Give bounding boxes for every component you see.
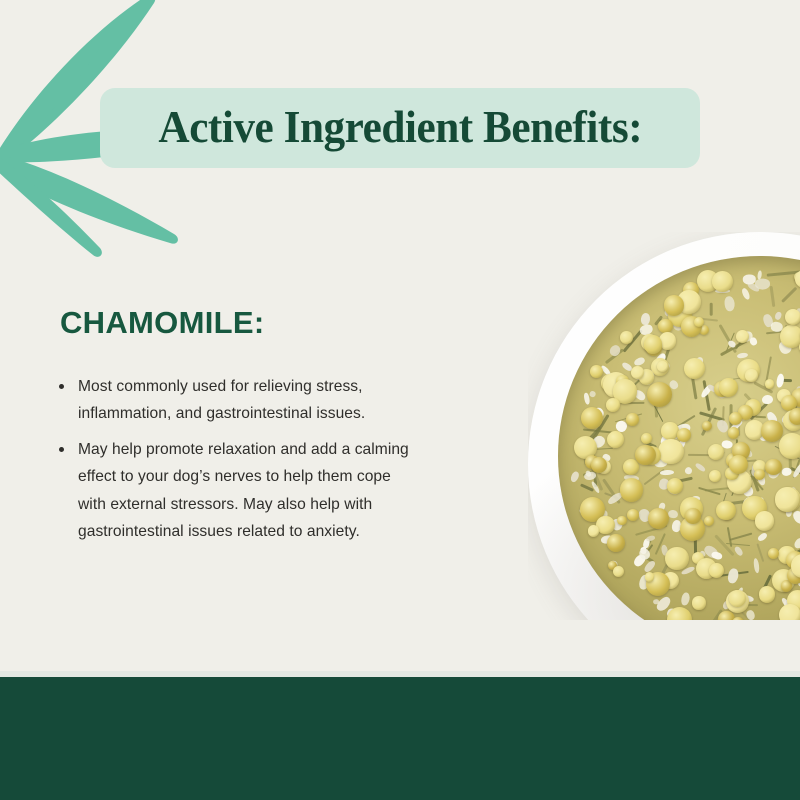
chamomile-floret xyxy=(658,439,684,465)
chamomile-floret xyxy=(648,508,669,529)
chamomile-floret xyxy=(620,478,643,501)
chamomile-floret xyxy=(626,413,639,426)
chamomile-petal xyxy=(641,312,651,325)
chamomile-floret xyxy=(765,379,775,389)
list-item-text: May help promote relaxation and add a ca… xyxy=(78,441,409,540)
chamomile-floret xyxy=(606,398,620,412)
chamomile-petal xyxy=(743,275,756,285)
chamomile-stem xyxy=(688,454,710,456)
chamomile-floret xyxy=(657,361,668,372)
chamomile-floret xyxy=(591,457,607,473)
chamomile-floret xyxy=(635,445,656,466)
chamomile-floret xyxy=(704,516,714,526)
chamomile-floret xyxy=(709,563,724,578)
chamomile-floret xyxy=(617,516,627,526)
list-item-text: Most commonly used for relieving stress,… xyxy=(78,378,365,422)
chamomile-floret xyxy=(709,470,721,482)
chamomile-floret xyxy=(712,271,733,292)
chamomile-floret xyxy=(745,369,758,382)
poster-canvas: Active Ingredient Benefits: CHAMOMILE: M… xyxy=(0,0,800,800)
chamomile-petal xyxy=(724,296,735,312)
chamomile-floret xyxy=(694,317,704,327)
chamomile-floret xyxy=(588,525,600,537)
chamomile-petal xyxy=(776,373,786,388)
chamomile-floret xyxy=(667,607,692,620)
chamomile-stem xyxy=(770,286,776,307)
chamomile-floret xyxy=(613,566,624,577)
chamomile-floret xyxy=(779,433,800,459)
chamomile-petal xyxy=(762,394,774,404)
chamomile-petal xyxy=(569,470,580,483)
page-title: Active Ingredient Benefits: xyxy=(158,104,642,150)
chamomile-floret xyxy=(590,365,603,378)
list-item: Most commonly used for relieving stress,… xyxy=(57,373,417,428)
chamomile-petal xyxy=(680,592,690,606)
chamomile-stem xyxy=(730,533,752,541)
chamomile-petal xyxy=(608,343,622,358)
chamomile-floret xyxy=(684,358,705,379)
chamomile-floret xyxy=(647,382,672,407)
chamomile-floret xyxy=(785,309,800,325)
chamomile-floret xyxy=(596,516,614,534)
chamomile-floret xyxy=(779,604,800,620)
chamomile-floret xyxy=(667,478,683,494)
chamomile-floret xyxy=(664,295,684,315)
chamomile-floret xyxy=(775,487,800,512)
chamomile-floret xyxy=(665,547,689,571)
chamomile-stem xyxy=(710,303,713,316)
ingredient-heading: CHAMOMILE: xyxy=(60,305,264,341)
chamomile-floret xyxy=(658,319,673,334)
benefits-list: Most commonly used for relieving stress,… xyxy=(57,373,417,553)
chamomile-stem xyxy=(781,286,798,303)
chamomile-floret xyxy=(607,534,625,552)
bullet-dot-icon xyxy=(59,384,64,389)
chamomile-bowl-image xyxy=(528,232,800,620)
chamomile-floret xyxy=(718,611,735,621)
chamomile-floret xyxy=(661,422,679,440)
chamomile-petal xyxy=(757,531,768,541)
title-banner: Active Ingredient Benefits: xyxy=(100,88,700,168)
chamomile-floret xyxy=(581,407,603,429)
chamomile-petal xyxy=(633,356,646,367)
chamomile-floret xyxy=(728,427,740,439)
chamomile-petal xyxy=(746,609,756,620)
chamomile-floret xyxy=(692,596,705,609)
chamomile-petal xyxy=(749,336,758,346)
chamomile-floret xyxy=(789,408,800,425)
bullet-dot-icon xyxy=(59,447,64,452)
chamomile-floret xyxy=(719,378,738,397)
footer-bar xyxy=(0,677,800,800)
chamomile-floret xyxy=(755,511,775,531)
chamomile-floret xyxy=(716,501,736,521)
chamomile-petal xyxy=(683,465,693,475)
chamomile-petal xyxy=(660,470,674,476)
chamomile-floret xyxy=(765,459,782,476)
chamomile-petal xyxy=(781,467,791,476)
chamomile-petal xyxy=(643,559,657,573)
chamomile-floret xyxy=(759,586,775,602)
chamomile-stem xyxy=(757,543,765,562)
chamomile-floret xyxy=(607,431,624,448)
chamomile-flowers xyxy=(558,256,800,620)
chamomile-floret xyxy=(644,335,663,354)
chamomile-stem xyxy=(690,377,697,400)
chamomile-floret xyxy=(780,325,800,348)
chamomile-floret xyxy=(631,366,644,379)
chamomile-floret xyxy=(768,548,779,559)
chamomile-petal xyxy=(753,558,760,573)
list-item: May help promote relaxation and add a ca… xyxy=(57,436,417,546)
chamomile-floret xyxy=(761,420,783,442)
chamomile-petal xyxy=(727,568,740,584)
chamomile-floret xyxy=(620,331,633,344)
chamomile-petal xyxy=(755,279,770,290)
chamomile-petal xyxy=(589,390,597,398)
chamomile-floret xyxy=(732,617,744,620)
chamomile-floret xyxy=(641,433,652,444)
chamomile-petal xyxy=(741,288,751,301)
chamomile-floret xyxy=(795,270,800,288)
chamomile-floret xyxy=(677,428,691,442)
chamomile-floret xyxy=(708,444,724,460)
chamomile-floret xyxy=(702,421,712,431)
bowl-rim xyxy=(528,232,800,620)
chamomile-petal xyxy=(695,462,707,472)
chamomile-floret xyxy=(729,455,748,474)
chamomile-stem xyxy=(755,416,766,418)
chamomile-floret xyxy=(627,509,639,521)
chamomile-petal xyxy=(774,311,782,320)
chamomile-floret xyxy=(685,508,701,524)
chamomile-petal xyxy=(734,545,744,556)
